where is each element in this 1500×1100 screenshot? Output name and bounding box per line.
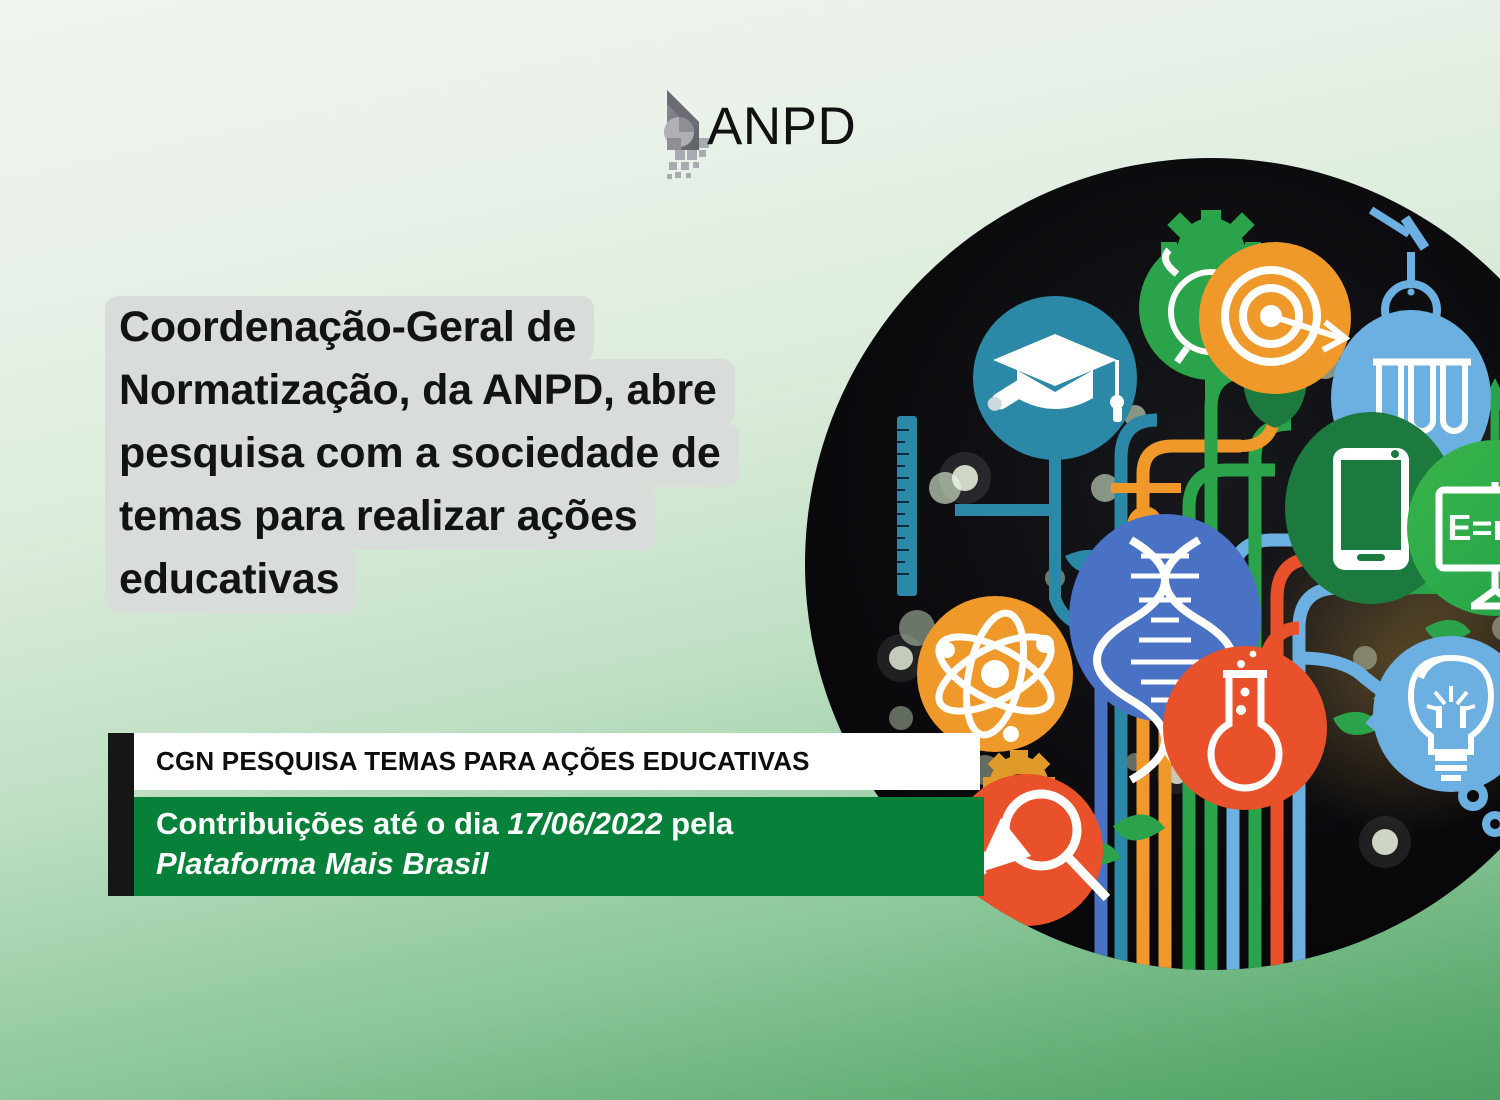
headline-line-1: Coordenação-Geral de	[105, 296, 594, 361]
page-title: Coordenação-Geral de Normatização, da AN…	[105, 296, 865, 611]
banner-green-strip: Contribuições até o dia 17/06/2022 pela …	[134, 797, 984, 896]
banner-platform-name: Plataforma Mais Brasil	[134, 844, 984, 884]
headline-line-5: educativas	[105, 548, 357, 613]
node-graduation-cap	[973, 296, 1137, 460]
svg-text:E=mc: E=mc	[1447, 507, 1500, 548]
anpd-wordmark: ANPD	[707, 96, 856, 157]
headline-line-2: Normatização, da ANPD, abre	[105, 359, 735, 424]
banner-deadline-line: Contribuições até o dia 17/06/2022 pela	[134, 797, 984, 844]
banner-kicker-text: CGN PESQUISA TEMAS PARA AÇÕES EDUCATIVAS	[134, 746, 810, 777]
smartphone-icon	[1333, 448, 1409, 570]
banner-kicker-strip: CGN PESQUISA TEMAS PARA AÇÕES EDUCATIVAS	[134, 733, 980, 790]
banner-deadline-suffix: pela	[663, 806, 734, 841]
banner-deadline-date: 17/06/2022	[507, 806, 662, 841]
pipette-icon	[1371, 210, 1425, 248]
banner-deadline-prefix: Contribuições até o dia	[156, 806, 507, 841]
headline-line-3: pesquisa com a sociedade de	[105, 422, 739, 487]
node-target	[1199, 242, 1351, 394]
node-lightbulb	[1373, 636, 1500, 792]
ruler-icon	[897, 416, 917, 596]
banner-accent-bar	[108, 733, 134, 896]
node-atom	[917, 596, 1073, 752]
headline-line-4: temas para realizar ações	[105, 485, 656, 550]
poster-canvas: ANPD	[0, 0, 1500, 1100]
node-flask	[1163, 646, 1327, 810]
